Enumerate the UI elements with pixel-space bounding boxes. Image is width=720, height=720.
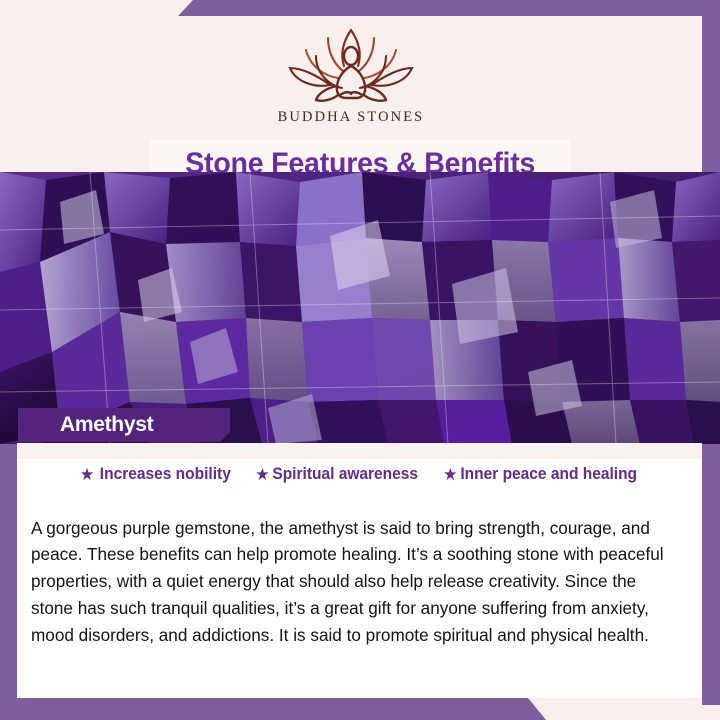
benefit-item-2: ★ Spiritual awareness [255,465,418,484]
benefit-label-2: Spiritual awareness [272,465,418,484]
star-icon: ★ [444,466,458,483]
benefit-label-1: Increases nobility [100,465,231,484]
benefit-item-1: ★ Increases nobility [80,465,231,484]
content-top-fade [17,443,702,459]
benefit-item-3: ★ Inner peace and healing [444,465,638,484]
frame-top-band [0,0,720,16]
crystal-texture [0,172,720,444]
frame-left-band [0,443,17,720]
product-info-card: BUDDHA STONES Stone Features & Benefits [0,0,720,720]
frame-bottom-band [0,698,720,720]
hero-image-amethyst-crystals [0,172,720,444]
benefit-label-3: Inner peace and healing [461,465,638,484]
header: BUDDHA STONES Stone Features & Benefits [0,16,702,172]
content-panel: ★ Increases nobility ★ Spiritual awarene… [17,443,702,698]
stone-name-tag: Amethyst [18,408,230,442]
star-icon: ★ [80,466,94,483]
stone-name: Amethyst [60,413,153,437]
benefits-list: ★ Increases nobility ★ Spiritual awarene… [17,465,702,484]
brand-name: BUDDHA STONES [278,109,425,126]
stone-description: A gorgeous purple gemstone, the amethyst… [31,515,676,649]
lotus-meditation-icon [280,24,422,108]
brand-logo: BUDDHA STONES [0,24,702,126]
star-icon: ★ [255,466,269,483]
